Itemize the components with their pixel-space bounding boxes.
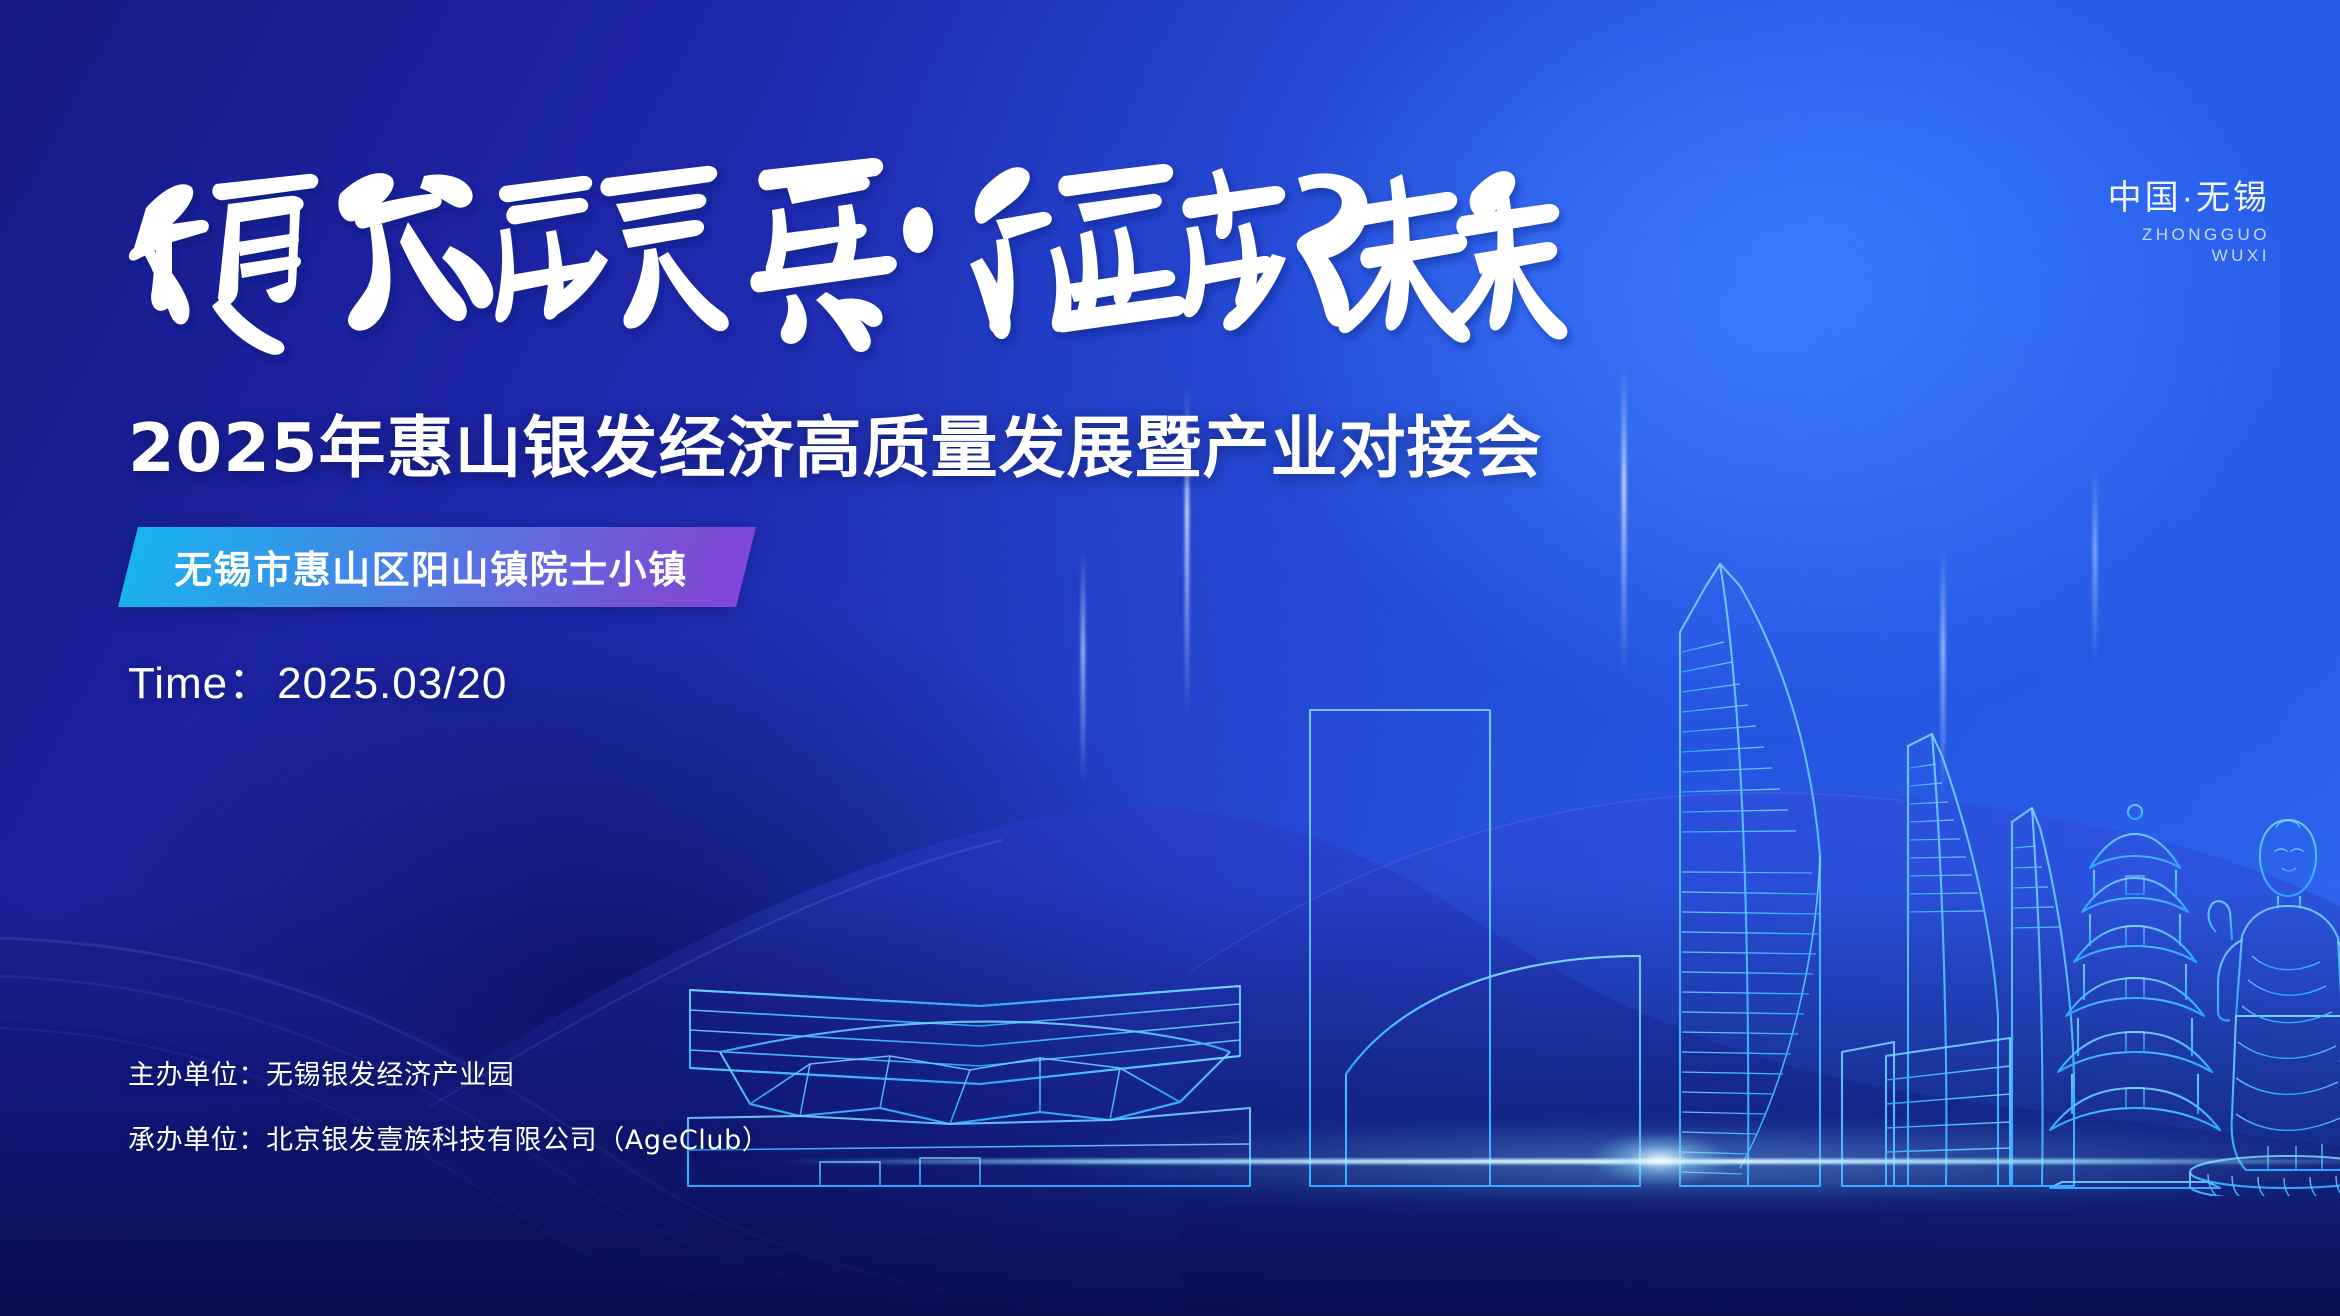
organizer-coorganizer: 承办单位：北京银发壹族科技有限公司（AgeClub） — [128, 1126, 769, 1156]
landmark-leaf-tower — [1908, 734, 1998, 1186]
venue-badge-wrapper: 无锡市惠山区阳山镇院士小镇 — [128, 527, 1748, 607]
logo-pinyin-zhongguo: ZHONGGUO — [2108, 224, 2270, 245]
venue-badge: 无锡市惠山区阳山镇院士小镇 — [118, 527, 755, 607]
headline-brush-strokes — [128, 150, 1578, 365]
lens-flare — [1565, 1124, 1755, 1194]
logo-chinese-text: 中国·无锡 — [2108, 178, 2270, 219]
time-label: Time： — [128, 659, 273, 708]
glyph-hui — [750, 158, 897, 352]
main-content: 2025年惠山银发经济高质量发展暨产业对接会 无锡市惠山区阳山镇院士小镇 Tim… — [128, 150, 1748, 711]
glyph-fa — [338, 173, 493, 330]
event-subtitle: 2025年惠山银发经济高质量发展暨产业对接会 — [128, 394, 1748, 491]
wuxi-city-logo: 中国·无锡 ZHONGGUO WUXI — [2108, 178, 2270, 266]
organizer-host: 主办单位：无锡银发经济产业园 — [128, 1061, 769, 1091]
glyph-separator-dot — [903, 207, 933, 253]
organizer-block: 主办单位：无锡银发经济产业园 承办单位：北京银发壹族科技有限公司（AgeClub… — [128, 1061, 769, 1156]
time-value: 2025.03/20 — [277, 659, 507, 708]
headline-calligraphy — [128, 150, 1748, 380]
venue-badge-label: 无锡市惠山区阳山镇院士小镇 — [174, 539, 688, 594]
landmark-seven-tier-pagoda — [2036, 768, 2234, 1188]
glyph-yin — [129, 174, 318, 355]
glyph-ju — [495, 166, 728, 331]
glyph-dong — [1182, 168, 1367, 331]
ground-glow-line — [780, 1159, 2340, 1164]
glyph-lai — [1447, 171, 1568, 339]
landmark-grid-tower — [1310, 710, 1490, 1186]
conference-banner: 中国·无锡 ZHONGGUO WUXI — [0, 0, 2340, 1316]
event-time: Time：2025.03/20 — [128, 647, 1748, 711]
glyph-lian — [970, 164, 1187, 339]
logo-pinyin-wuxi: WUXI — [2108, 245, 2270, 266]
